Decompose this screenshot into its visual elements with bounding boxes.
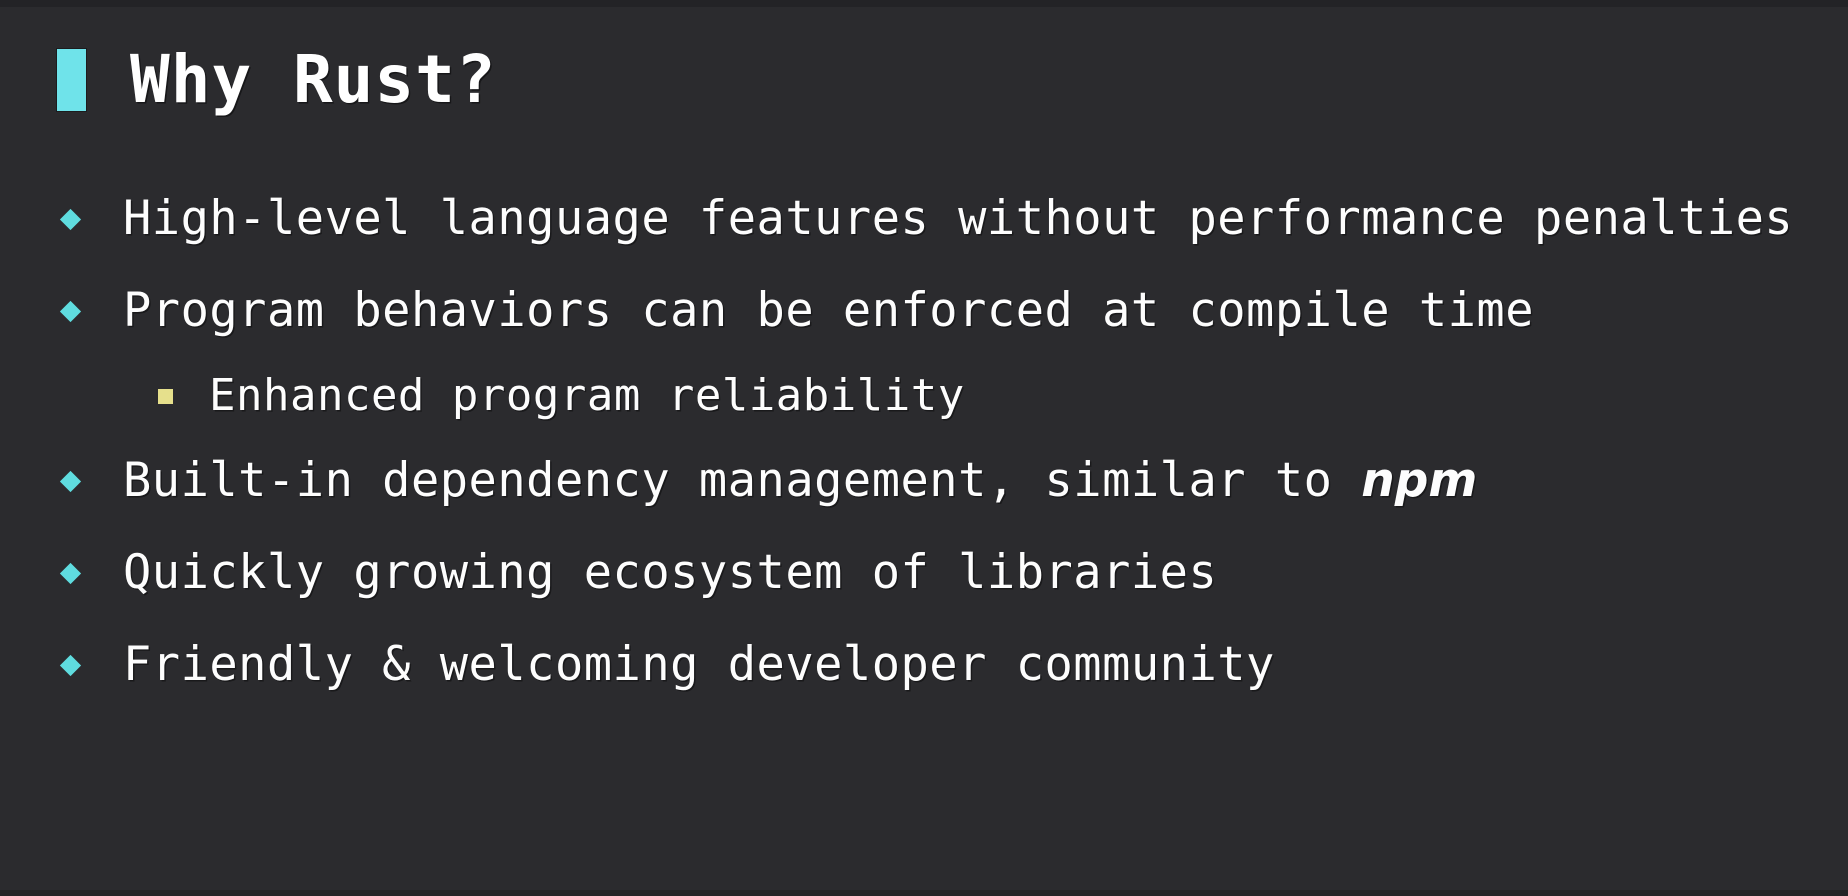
list-item-emphasis-term: npm <box>1361 453 1477 508</box>
letterbox-band-top <box>0 0 1848 7</box>
sub-list-item-label: Enhanced program reliability <box>209 366 965 426</box>
diamond-bullet-icon <box>60 300 81 321</box>
list-item-label: High-level language features without per… <box>123 186 1793 252</box>
title-accent-bar-icon <box>57 49 86 111</box>
list-item: Program behaviors can be enforced at com… <box>57 278 1848 344</box>
diamond-bullet-icon <box>60 470 81 491</box>
bullet-marker-slot <box>57 186 123 252</box>
square-bullet-icon <box>158 389 173 404</box>
bullet-marker-slot <box>57 540 123 606</box>
list-item-label: Friendly & welcoming developer community <box>123 632 1275 698</box>
list-item-label-prefix: Built-in dependency management, similar … <box>123 453 1361 508</box>
list-item-label: Quickly growing ecosystem of libraries <box>123 540 1217 606</box>
diamond-bullet-icon <box>60 562 81 583</box>
list-item-label: Program behaviors can be enforced at com… <box>123 278 1534 344</box>
bullet-list: High-level language features without per… <box>57 186 1848 724</box>
list-item: Friendly & welcoming developer community <box>57 632 1848 698</box>
list-item-label: Built-in dependency management, similar … <box>123 448 1477 514</box>
presentation-slide: Why Rust? High-level language features w… <box>0 0 1848 896</box>
bullet-marker-slot <box>57 278 123 344</box>
list-item: Built-in dependency management, similar … <box>57 448 1848 514</box>
bullet-marker-slot <box>57 448 123 514</box>
letterbox-band-bottom <box>0 890 1848 896</box>
list-item: Quickly growing ecosystem of libraries <box>57 540 1848 606</box>
page-title: Why Rust? <box>130 47 497 113</box>
diamond-bullet-icon <box>60 208 81 229</box>
slide-title-row: Why Rust? <box>57 34 497 126</box>
bullet-marker-slot <box>57 632 123 698</box>
list-item: High-level language features without per… <box>57 186 1848 252</box>
sub-bullet-marker-slot <box>153 366 209 426</box>
sub-list-item: Enhanced program reliability <box>153 366 1848 426</box>
diamond-bullet-icon <box>60 654 81 675</box>
